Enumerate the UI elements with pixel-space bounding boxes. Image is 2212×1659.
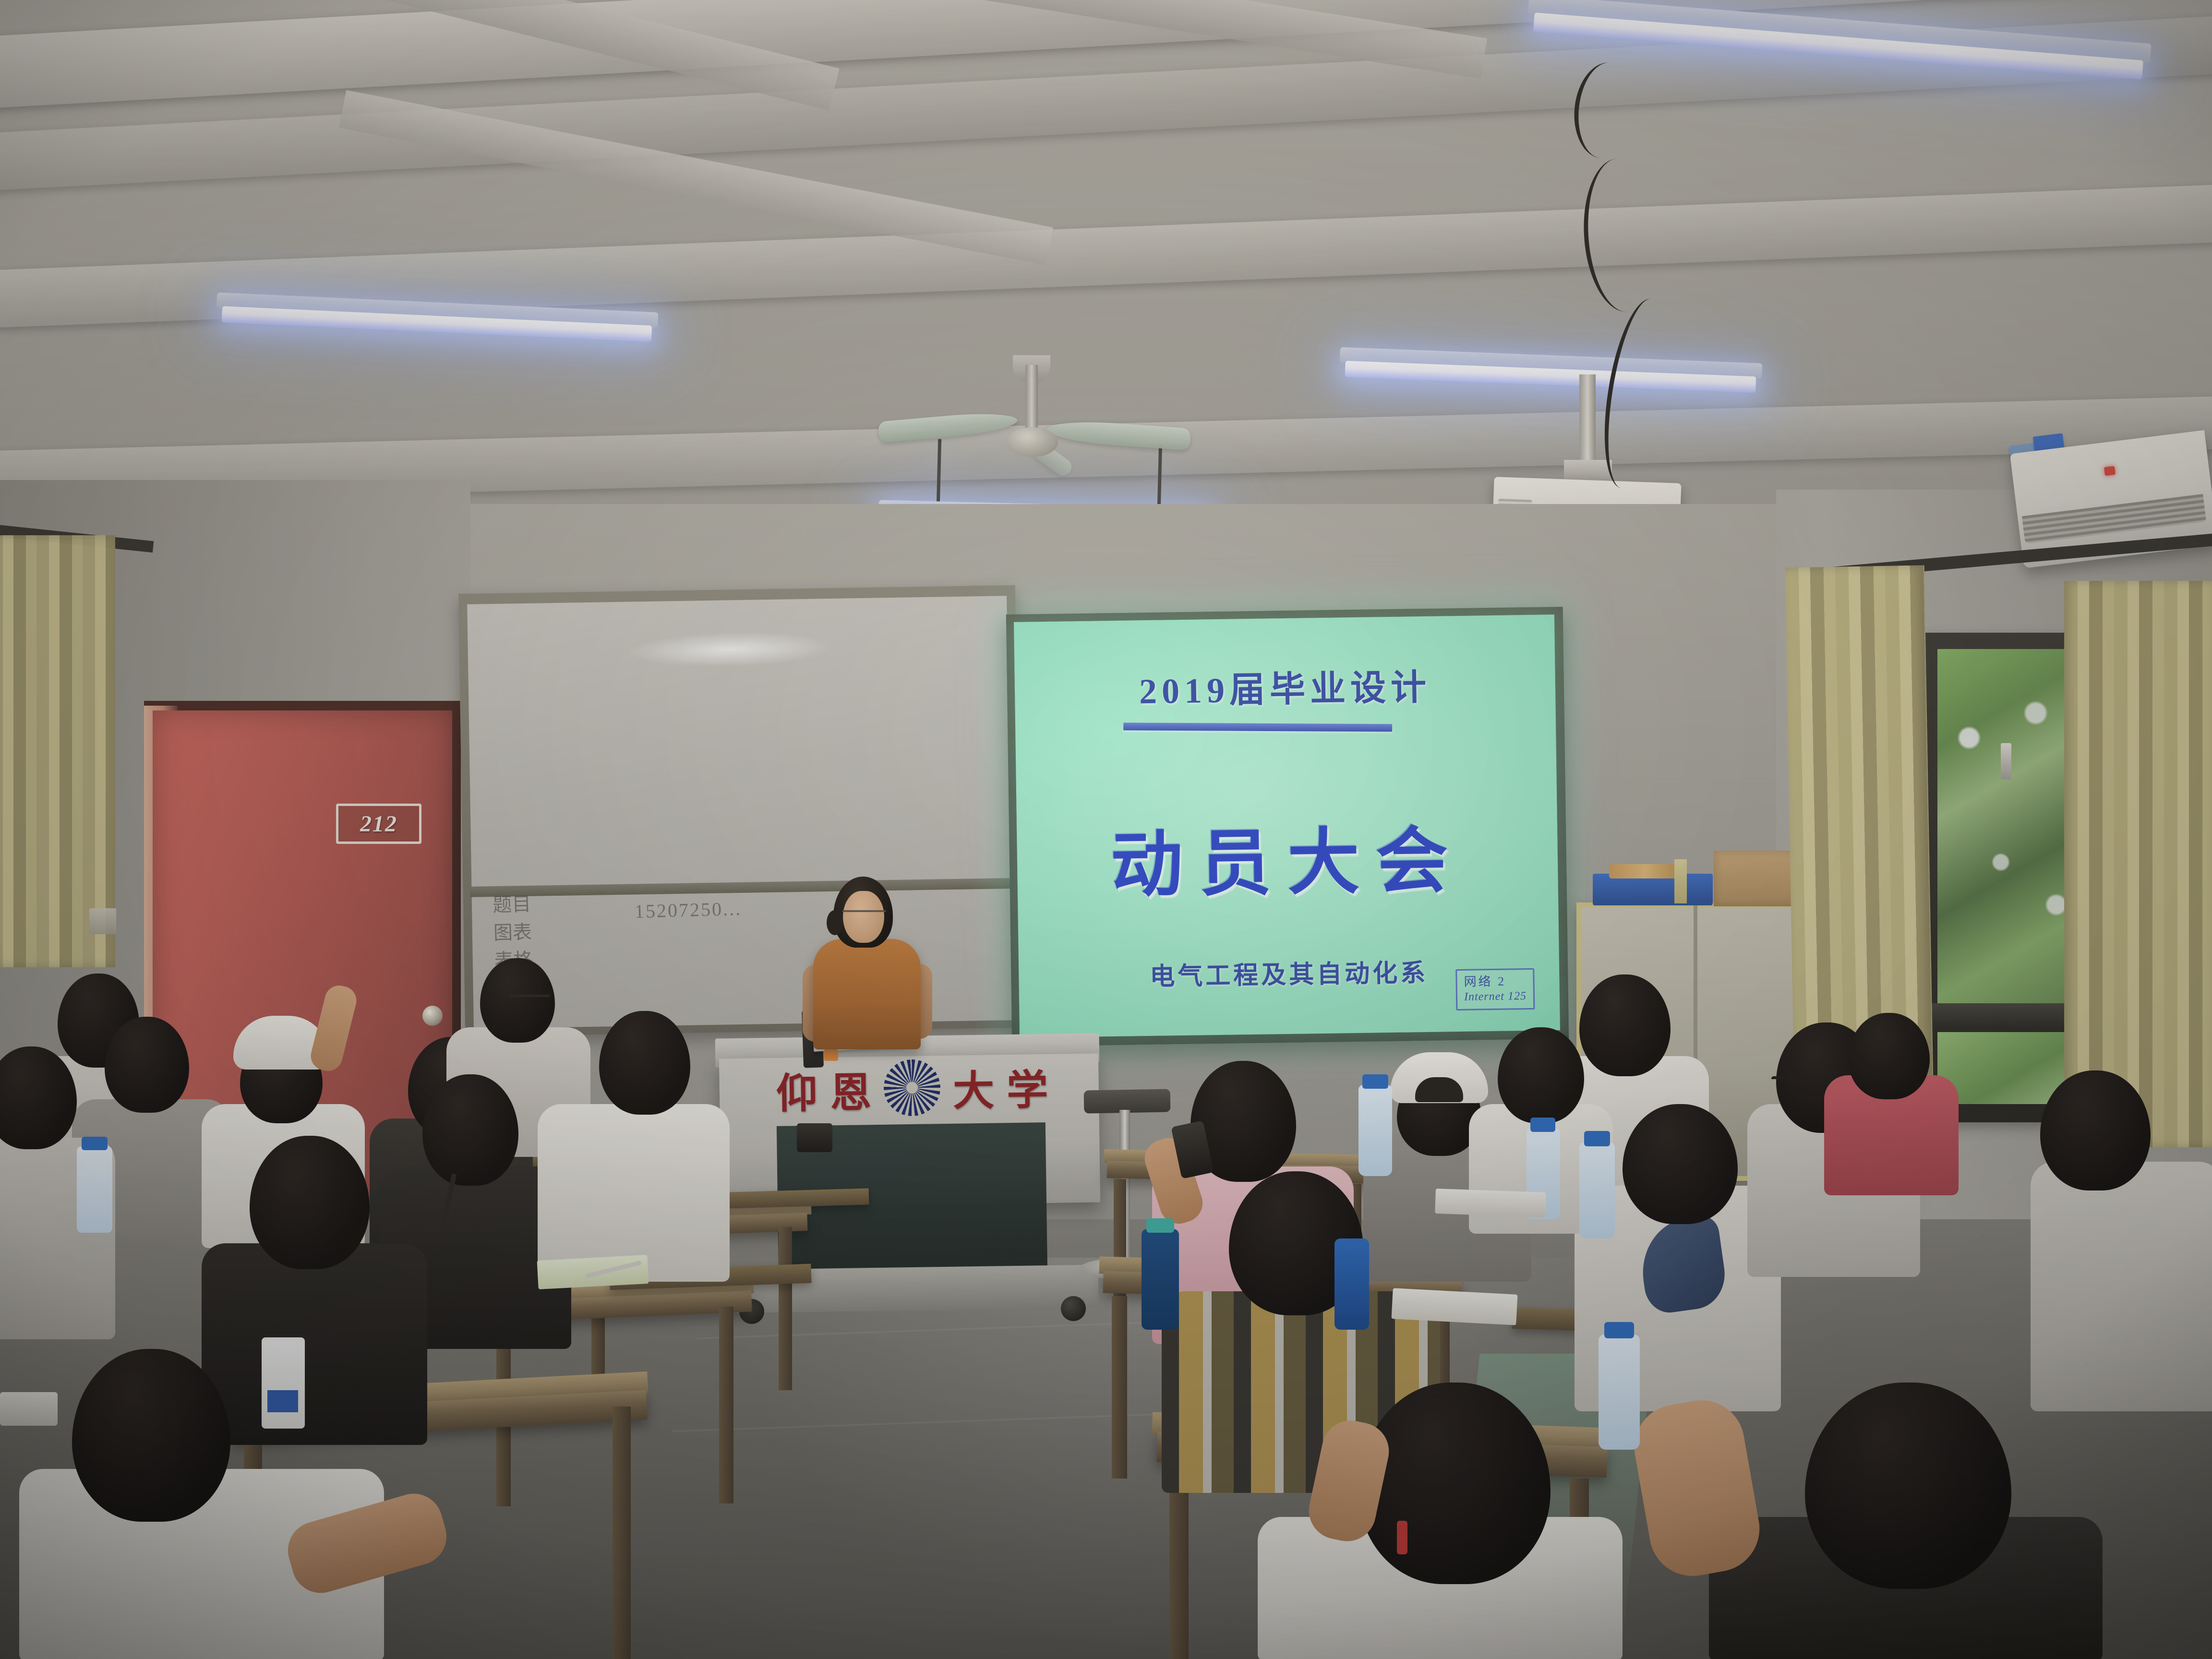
laptop[interactable]	[0, 1392, 58, 1426]
room-number-text: 212	[360, 811, 397, 837]
desk-leg	[779, 1227, 792, 1390]
projector-mount-pole	[1579, 374, 1596, 466]
door-knob-icon[interactable]	[422, 1006, 443, 1026]
head	[1805, 1382, 2011, 1589]
desk-leg	[613, 1407, 631, 1659]
torso	[2031, 1162, 2212, 1411]
classroom-photo: 212 题目 图表 表格 15207250... 2019届毕业设计 动员大会 …	[0, 0, 2212, 1659]
podium-char-1: 仰	[776, 1059, 818, 1119]
whiteboard-glare	[628, 630, 831, 669]
podium-caster	[1061, 1296, 1086, 1321]
slide-rule-divider	[1123, 722, 1392, 732]
slide-badge-line2: Internet 125	[1464, 989, 1527, 1004]
air-conditioner-led-icon	[2104, 466, 2116, 476]
ceiling-fan-downrod	[1025, 365, 1038, 432]
slide-main-heading: 动员大会	[1016, 801, 1558, 913]
water-bottle[interactable]	[1599, 1334, 1640, 1450]
head	[72, 1349, 230, 1522]
desk-leg	[719, 1307, 733, 1503]
desk-leg	[1169, 1465, 1189, 1659]
torso	[202, 1243, 427, 1445]
cap-panel	[1415, 1077, 1463, 1102]
thermos[interactable]	[1142, 1229, 1179, 1330]
head	[1358, 1382, 1551, 1584]
glasses-icon	[842, 910, 886, 921]
water-bottle[interactable]	[1358, 1085, 1392, 1176]
presenter-hair-tie	[827, 910, 843, 935]
head	[1848, 1013, 1930, 1099]
water-bottle[interactable]	[1579, 1142, 1615, 1238]
head	[422, 1074, 518, 1186]
slide-badge-line1: 网络 2	[1464, 974, 1526, 990]
ceiling-fan-hub	[1006, 427, 1058, 457]
glasses-icon	[1771, 1076, 1817, 1088]
head	[1498, 1027, 1584, 1123]
tray-contents	[1609, 864, 1681, 878]
small-object-on-podium	[824, 1049, 838, 1061]
whiteboard-writing-right: 15207250...	[634, 897, 742, 923]
notebook[interactable]	[1435, 1189, 1546, 1217]
head	[105, 1017, 189, 1113]
desk-leg	[1112, 1296, 1127, 1479]
window-latch[interactable]	[2001, 743, 2011, 780]
glasses-icon	[509, 995, 550, 1005]
projection-screen[interactable]: 2019届毕业设计 动员大会 电气工程及其自动化系 网络 2 Internet …	[1014, 614, 1560, 1038]
podium-char-2: 恩	[829, 1058, 872, 1119]
curtain-right-outer[interactable]	[2064, 581, 2212, 1147]
head	[1579, 974, 1671, 1076]
curtain-left[interactable]	[0, 535, 115, 967]
head	[1623, 1104, 1738, 1224]
bottle-on-cabinet	[1674, 859, 1687, 903]
water-bottle[interactable]	[77, 1146, 112, 1233]
head	[2040, 1070, 2151, 1190]
podium-char-4: 学	[1006, 1056, 1048, 1117]
head	[250, 1136, 370, 1269]
podium-university-logo: 仰 恩 大 学	[748, 1057, 1076, 1118]
head	[599, 1011, 690, 1115]
red-bracelet	[1397, 1521, 1407, 1554]
notebook[interactable]	[1392, 1288, 1518, 1325]
milk-carton[interactable]	[262, 1337, 305, 1429]
presenter-torso	[813, 939, 921, 1049]
curtain-right-inner[interactable]	[1785, 565, 1934, 1086]
bag-on-desk[interactable]	[797, 1123, 832, 1152]
slide-title: 2019届毕业设计	[1014, 657, 1555, 716]
light-switch[interactable]	[89, 908, 116, 934]
room-number-plate: 212	[336, 804, 421, 844]
podium-char-3: 大	[952, 1057, 995, 1117]
sunburst-emblem-icon	[883, 1059, 941, 1117]
thermos[interactable]	[1334, 1238, 1369, 1330]
slide-network-badge: 网络 2 Internet 125	[1455, 968, 1535, 1010]
